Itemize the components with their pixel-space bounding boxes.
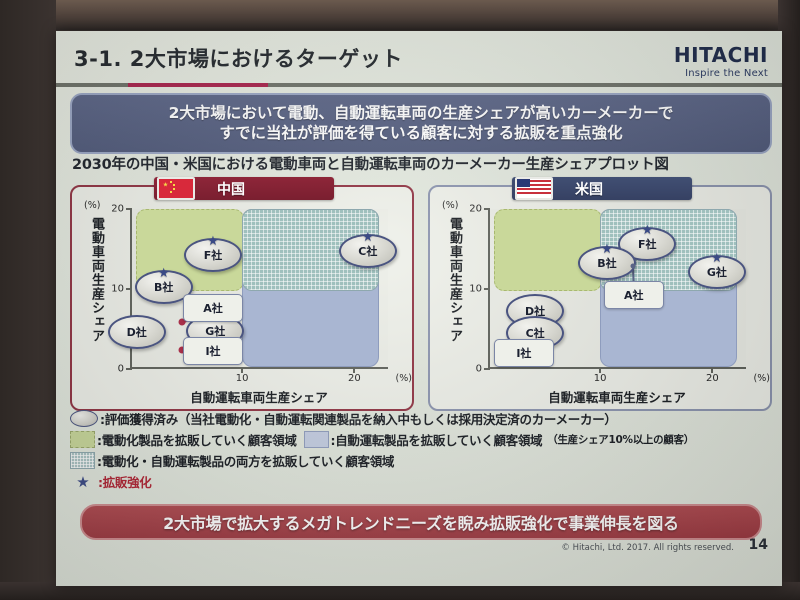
us-flag-icon xyxy=(515,177,553,200)
company-label: D社 xyxy=(127,324,147,340)
page-number: 14 xyxy=(749,537,768,553)
y-tick xyxy=(484,368,490,370)
y-axis-title-us: 電動車両生産シェア xyxy=(444,217,464,343)
company-bubble-C社[interactable]: C社★ xyxy=(339,234,397,268)
y-axis-title-china: 電動車両生産シェア xyxy=(86,217,106,343)
legend-row-regions: :電動化製品を拡販していく顧客領域 :自動運転製品を拡販していく顧客領域 （生産… xyxy=(70,430,770,449)
chart-panel-us: 米国 電動車両生産シェア 自動運転車両生産シェア (%) (%) 0102010… xyxy=(428,185,772,411)
company-label-box-A社[interactable]: A社 xyxy=(604,281,664,309)
leader-dot xyxy=(630,263,635,268)
x-tick-label: 20 xyxy=(348,373,361,384)
y-tick xyxy=(126,288,132,290)
company-label-box-I社[interactable]: I社 xyxy=(494,339,554,367)
chart-section-subtitle: 2030年の中国・米国における電動車両と自動運転車両のカーメーカー生産シェアプロ… xyxy=(72,153,772,174)
company-label-box-A社[interactable]: A社 xyxy=(183,294,243,322)
chart-title-us: 米国 xyxy=(575,179,603,199)
y-tick-label: 0 xyxy=(118,364,124,375)
x-axis xyxy=(130,367,388,369)
legend-label-autonomous: :自動運転製品を拡販していく顧客領域 xyxy=(331,430,543,449)
company-bubble-G社[interactable]: G社★ xyxy=(688,255,746,289)
plot-area-china: (%) (%) 010201020F社★C社★B社★D社G社A社I社 xyxy=(130,209,388,369)
chart-title-china: 中国 xyxy=(217,179,245,199)
projection-wall-left xyxy=(0,0,56,600)
company-label: G社 xyxy=(205,323,225,339)
legend-row-evaluated: :評価獲得済み（当社電動化・自動運転関連製品を納入中もしくは採用決定済のカーメー… xyxy=(70,409,770,428)
x-tick xyxy=(711,367,713,373)
star-icon: ★ xyxy=(158,267,170,280)
key-message-line-1: 2大市場において電動、自動運転車両の生産シェアが高いカーメーカーで xyxy=(169,104,674,123)
legend-label-electrification: :電動化製品を拡販していく顧客領域 xyxy=(97,430,297,449)
x-tick xyxy=(241,367,243,373)
y-tick xyxy=(484,208,490,210)
legend-label-share-note: （生産シェア10%以上の顧客） xyxy=(547,432,694,447)
star-icon: ★ xyxy=(207,235,219,248)
x-tick-label: 10 xyxy=(236,373,249,384)
brand-tagline: Inspire the Next xyxy=(674,68,768,79)
x-tick-label: 10 xyxy=(594,373,607,384)
star-icon: ★ xyxy=(641,224,653,237)
slide-header: 3-1. 2大市場におけるターゲット HITACHI Inspire the N… xyxy=(56,37,782,85)
copyright-text: © Hitachi, Ltd. 2017. All rights reserve… xyxy=(561,543,734,553)
x-axis-unit-china: (%) xyxy=(396,373,412,384)
y-tick-label: 0 xyxy=(476,364,482,375)
chart-panel-china: 中国 電動車両生産シェア 自動運転車両生産シェア (%) (%) 0102010… xyxy=(70,185,414,411)
x-tick xyxy=(599,367,601,373)
hitachi-logo: HITACHI Inspire the Next xyxy=(674,43,768,79)
star-icon: ★ xyxy=(711,252,723,265)
x-axis-title-china: 自動運転車両生産シェア xyxy=(130,387,388,406)
y-tick-label: 20 xyxy=(469,204,482,215)
chart-title-tab-us: 米国 xyxy=(512,177,692,200)
y-tick xyxy=(126,208,132,210)
green-swatch-icon xyxy=(70,431,95,448)
company-bubble-B社[interactable]: B社★ xyxy=(578,246,636,280)
key-message-box: 2大市場において電動、自動運転車両の生産シェアが高いカーメーカーで すでに当社が… xyxy=(70,93,772,154)
legend-label-evaluated: :評価獲得済み（当社電動化・自動運転関連製品を納入中もしくは採用決定済のカーメー… xyxy=(100,409,617,428)
x-tick-label: 20 xyxy=(706,373,719,384)
star-icon: ★ xyxy=(70,473,96,491)
company-label: A社 xyxy=(203,300,223,316)
legend-row-star: ★ :拡販強化 xyxy=(70,472,770,491)
page-title: 3-1. 2大市場におけるターゲット xyxy=(74,43,403,73)
company-label: I社 xyxy=(516,345,531,361)
y-tick-label: 10 xyxy=(111,284,124,295)
legend-row-both: :電動化・自動運転製品の両方を拡販していく顧客領域 xyxy=(70,451,770,470)
x-tick xyxy=(353,367,355,373)
company-label: A社 xyxy=(624,287,644,303)
star-icon: ★ xyxy=(601,243,613,256)
x-axis-title-us: 自動運転車両生産シェア xyxy=(488,387,746,406)
legend-label-expansion: :拡販強化 xyxy=(98,472,152,491)
bottom-banner-text: 2大市場で拡大するメガトレンドニーズを睨み拡販強化で事業伸長を図る xyxy=(163,510,679,534)
brand-name: HITACHI xyxy=(674,43,768,67)
cn-flag-icon xyxy=(157,177,195,200)
y-tick xyxy=(484,288,490,290)
key-message-line-2: すでに当社が評価を得ている顧客に対する拡販を重点強化 xyxy=(219,124,622,143)
company-label: C社 xyxy=(358,243,377,259)
y-axis-unit-us: (%) xyxy=(442,200,458,211)
legend-label-both: :電動化・自動運転製品の両方を拡販していく顧客領域 xyxy=(97,451,394,470)
company-bubble-D社[interactable]: D社 xyxy=(108,315,166,349)
company-bubble-F社[interactable]: F社★ xyxy=(184,238,242,272)
plot-area-us: (%) (%) 010201020F社★B社★G社★D社C社A社I社 xyxy=(488,209,746,369)
x-axis-unit-us: (%) xyxy=(754,373,770,384)
company-label: B社 xyxy=(154,279,173,295)
y-axis-unit-china: (%) xyxy=(84,200,100,211)
bottom-banner: 2大市場で拡大するメガトレンドニーズを睨み拡販強化で事業伸長を図る xyxy=(80,504,762,540)
bubble-swatch-icon xyxy=(70,410,98,427)
hatched-swatch-icon xyxy=(70,452,95,469)
blue-swatch-icon xyxy=(304,431,329,448)
presentation-slide: 3-1. 2大市場におけるターゲット HITACHI Inspire the N… xyxy=(56,31,782,586)
company-label: B社 xyxy=(597,255,616,271)
title-divider-accent xyxy=(128,83,268,87)
company-label: F社 xyxy=(204,247,223,263)
charts-container: 中国 電動車両生産シェア 自動運転車両生産シェア (%) (%) 0102010… xyxy=(70,177,770,407)
y-tick xyxy=(126,368,132,370)
company-label: I社 xyxy=(205,343,220,359)
projection-wall-top xyxy=(0,0,800,30)
company-label-box-I社[interactable]: I社 xyxy=(183,337,243,365)
legend: :評価獲得済み（当社電動化・自動運転関連製品を納入中もしくは採用決定済のカーメー… xyxy=(70,409,770,499)
y-tick-label: 20 xyxy=(111,204,124,215)
y-tick-label: 10 xyxy=(469,284,482,295)
company-label: G社 xyxy=(707,264,727,280)
x-axis xyxy=(488,367,746,369)
star-icon: ★ xyxy=(362,231,374,244)
chart-title-tab-china: 中国 xyxy=(154,177,334,200)
company-label: F社 xyxy=(638,236,657,252)
